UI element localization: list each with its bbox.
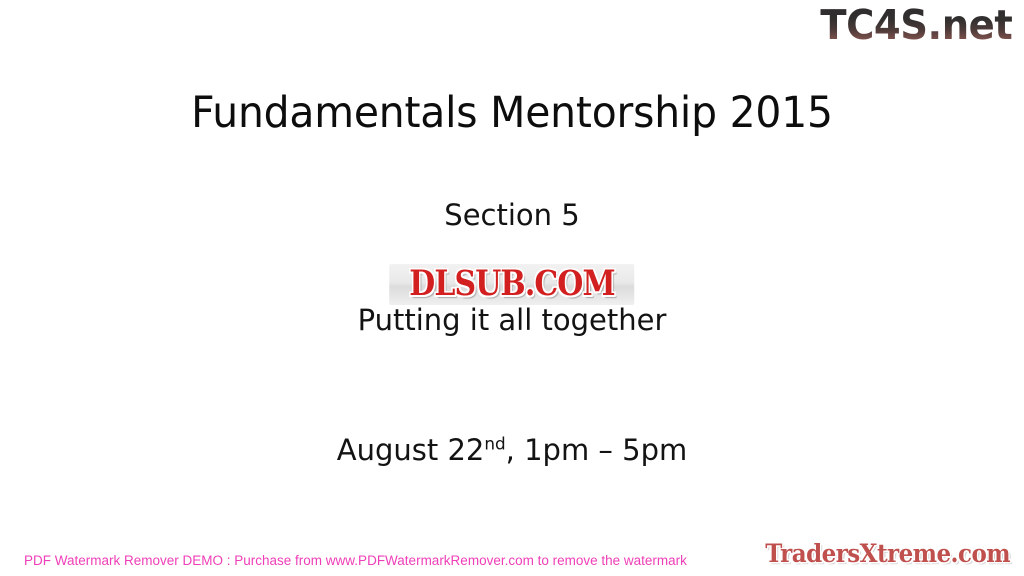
dlsub-watermark-text: DLSUB.COM [409,267,614,302]
presentation-slide: TC4S.net Fundamentals Mentorship 2015 Se… [0,0,1024,576]
datetime-time-part: , 1pm – 5pm [506,433,688,467]
slide-subtitle: Putting it all together [0,302,1024,338]
dlsub-watermark-banner: DLSUB.COM [389,264,634,305]
slide-datetime: August 22nd, 1pm – 5pm [0,432,1024,468]
datetime-ordinal-suffix: nd [484,433,505,453]
tradersxtreme-logo: TradersXtreme.com [765,539,1010,569]
datetime-date-part: August 22 [337,433,485,467]
section-label: Section 5 [0,197,1024,233]
tc4s-brand-logo: TC4S.net [820,2,1012,48]
page-title: Fundamentals Mentorship 2015 [26,86,999,140]
pdf-watermark-remover-notice: PDF Watermark Remover DEMO : Purchase fr… [24,552,687,570]
